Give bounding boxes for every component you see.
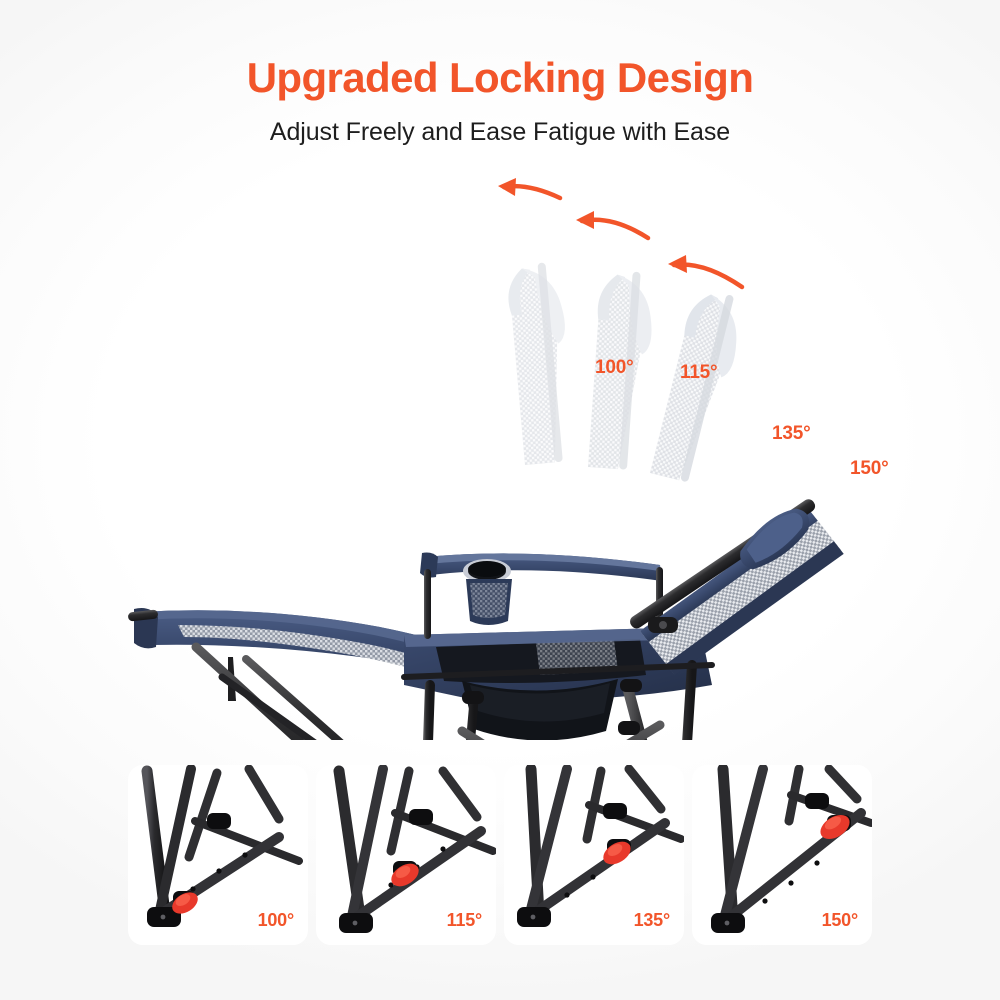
page-title: Upgraded Locking Design <box>0 0 1000 104</box>
thumbnail-card-115: 115° <box>316 765 496 945</box>
hero-product-image: 100° 115° 135° 150° <box>0 165 1000 740</box>
ghost-backrest-135 <box>649 286 749 486</box>
thumbnail-card-100: 100° <box>128 765 308 945</box>
header: Upgraded Locking Design Adjust Freely an… <box>0 0 1000 148</box>
angle-label-100: 100° <box>595 357 634 379</box>
angle-label-115: 115° <box>680 362 717 384</box>
ghost-backrest-100 <box>505 261 576 465</box>
thumbnail-label-150: 150° <box>822 910 858 931</box>
thumbnail-card-135: 135° <box>504 765 684 945</box>
page-subtitle: Adjust Freely and Ease Fatigue with Ease <box>0 104 1000 148</box>
thumbnail-label-115: 115° <box>447 910 482 931</box>
thumbnail-label-100: 100° <box>258 910 294 931</box>
recline-hinge <box>648 617 678 633</box>
angle-arrow-heads <box>498 178 687 273</box>
angle-thumbnail-strip: 100° <box>128 765 872 945</box>
thumbnail-label-135: 135° <box>634 910 670 931</box>
angle-label-150: 150° <box>850 458 889 480</box>
thumbnail-card-150: 150° <box>692 765 872 945</box>
angle-label-135: 135° <box>772 423 811 445</box>
infographic-page: Upgraded Locking Design Adjust Freely an… <box>0 0 1000 1000</box>
